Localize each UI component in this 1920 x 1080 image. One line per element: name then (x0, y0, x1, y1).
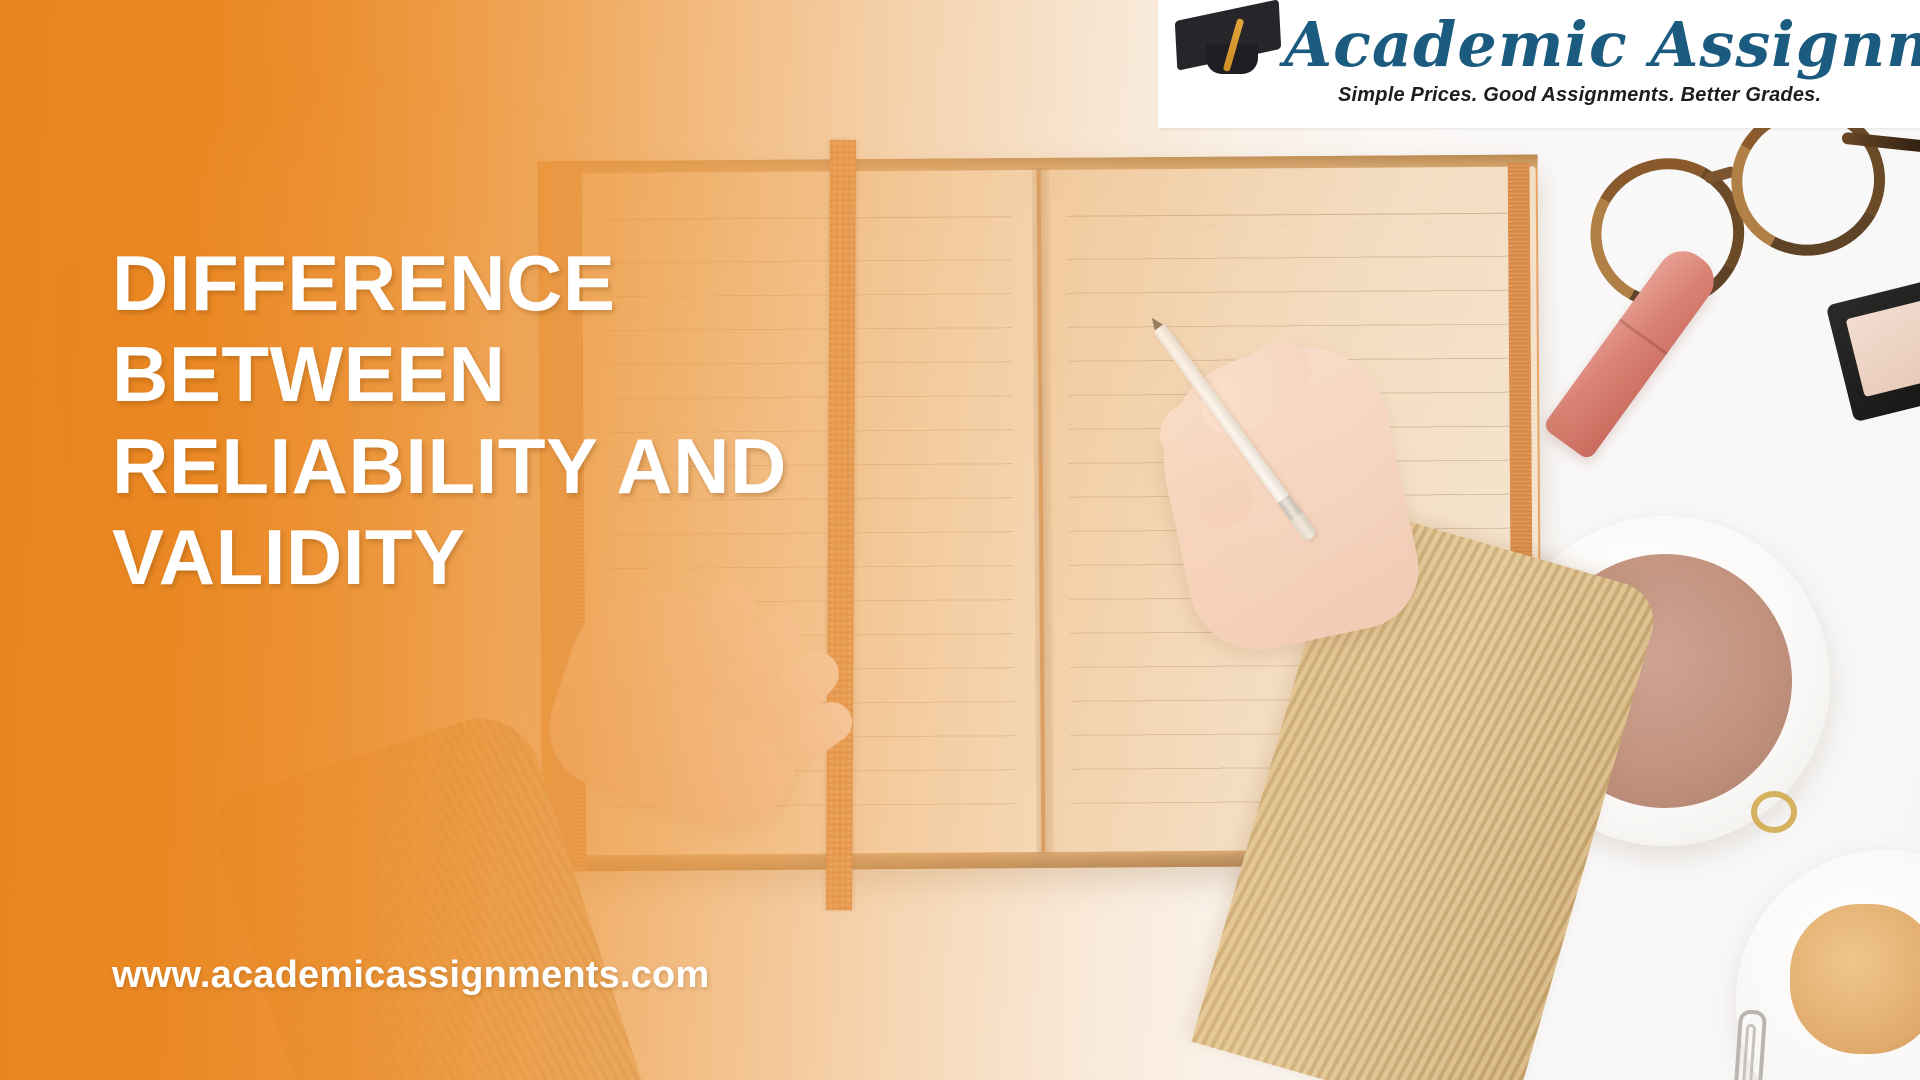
brand-tagline: Simple Prices. Good Assignments. Better … (1338, 84, 1821, 107)
graduation-cap-icon (1176, 4, 1292, 90)
logo-inner: Academic Assignments Simple Prices. Good… (1158, 0, 1920, 128)
title-line-4: VALIDITY (112, 512, 1072, 603)
title-line-2: BETWEEN (112, 329, 1072, 420)
banner-canvas: DIFFERENCE BETWEEN RELIABILITY AND VALID… (0, 0, 1920, 1080)
page-title: DIFFERENCE BETWEEN RELIABILITY AND VALID… (112, 238, 1072, 603)
brand-name: Academic Assignments (1284, 8, 1920, 81)
title-line-3: RELIABILITY AND (112, 421, 1072, 512)
website-url[interactable]: www.academicassignments.com (112, 954, 709, 997)
title-line-1: DIFFERENCE (112, 238, 1072, 329)
brand-logo[interactable]: Academic Assignments Simple Prices. Good… (1158, 0, 1920, 128)
